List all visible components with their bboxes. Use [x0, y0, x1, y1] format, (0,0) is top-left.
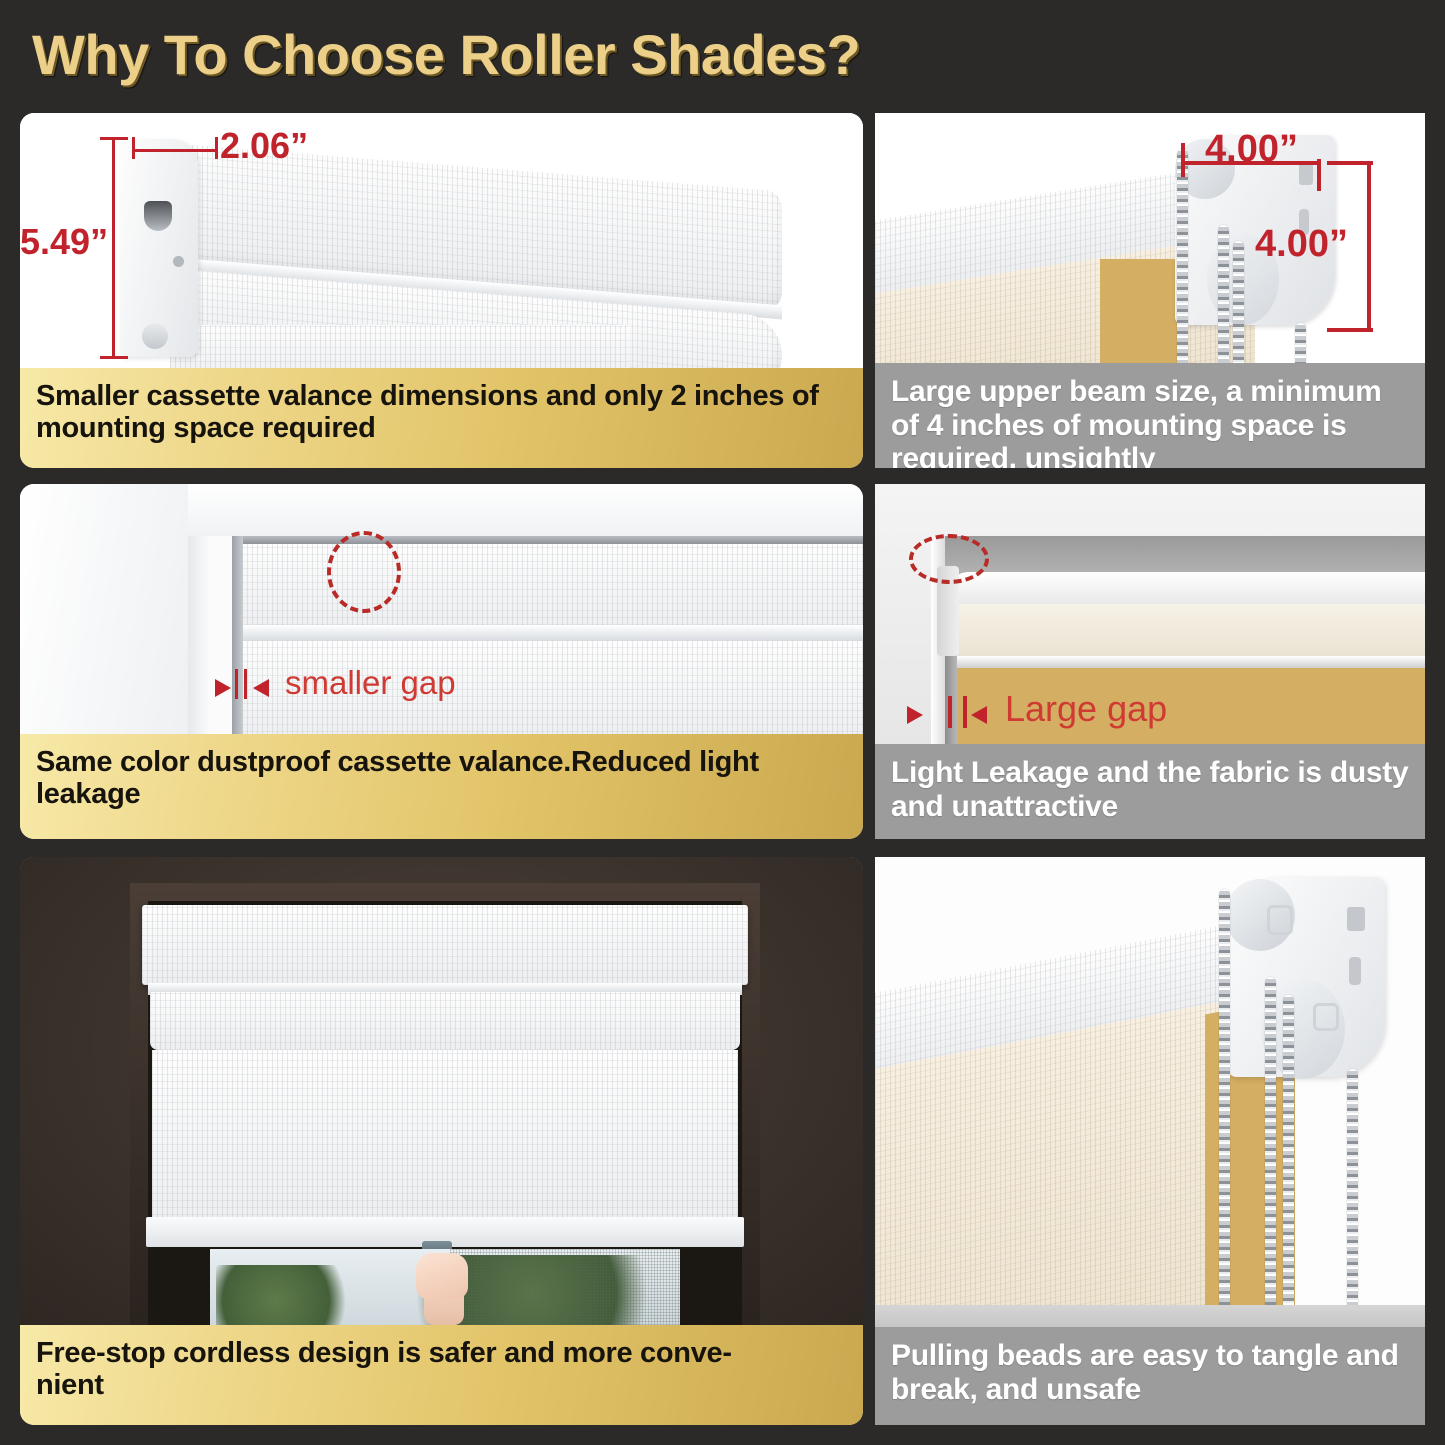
dim-beam-height-tick-top: [1327, 161, 1373, 165]
panel-grid: 2.06” 5.49” Smaller cassette valance dim…: [0, 0, 1445, 1445]
photo-large-beam: 4.00” 4.00”: [875, 113, 1425, 375]
large-gap-arrow-left-icon: [907, 706, 923, 724]
dim-width-tick-right: [215, 137, 218, 159]
panel-middle-left: smaller gap Same color dustproof cassett…: [20, 484, 863, 839]
valance-lower-roll: [150, 992, 740, 1050]
bead-chain-a[interactable]: [1219, 889, 1230, 1327]
dim-beam-width-label: 4.00”: [1205, 128, 1298, 171]
tree-foliage-left: [216, 1265, 366, 1325]
beam-under-edge: [953, 656, 1425, 668]
large-gap-marker-a: [948, 696, 952, 728]
caption-middle-left: Same color dustproof cassette valance.Re…: [20, 734, 863, 839]
dim-width-line: [132, 149, 218, 152]
caption-bottom-left: Free-stop cordless design is safer and m…: [20, 1325, 863, 1425]
gap-arrow-left-icon: [215, 679, 231, 697]
side-channel: [232, 536, 243, 746]
dim-beam-width-tick-left: [1181, 143, 1185, 177]
gap-marker-b: [244, 669, 247, 699]
dim-width-tick-left: [132, 137, 135, 159]
bracket-chain-guide-lower-icon: [1313, 1003, 1339, 1031]
panel-top-right: 4.00” 4.00” Large upper beam size, a min…: [875, 113, 1425, 468]
caption-top-left: Smaller cassette valance dimensions and …: [20, 368, 863, 468]
panel-middle-right: Large gap Light Leakage and the fabric i…: [875, 484, 1425, 839]
gap-label-large: Large gap: [1005, 688, 1167, 730]
gap-highlight-ellipse: [327, 531, 401, 613]
photo-light-leakage: Large gap: [875, 484, 1425, 746]
panel-top-left: 2.06” 5.49” Smaller cassette valance dim…: [20, 113, 863, 468]
window-screen-overlay: [450, 1249, 680, 1325]
shade-fabric-back: [1100, 259, 1178, 375]
bead-chain-b[interactable]: [1265, 977, 1276, 1327]
gap-marker-a: [235, 669, 238, 699]
bracket-notch-upper-icon: [1299, 163, 1313, 185]
caption-bottom-right: Pulling beads are easy to tangle and bre…: [875, 1327, 1425, 1425]
cassette-valance-installed: [142, 905, 748, 985]
photo-dustproof-cassette: smaller gap: [20, 484, 863, 746]
dim-height-line: [112, 137, 115, 359]
cassette-valance-lip: [242, 625, 863, 641]
dim-height-label: 5.49”: [20, 221, 108, 263]
floor-shadow-band: [875, 1305, 1425, 1327]
dim-beam-height-line: [1367, 161, 1371, 331]
panel-bottom-left: Free-stop cordless design is safer and m…: [20, 857, 863, 1425]
dim-beam-height-label: 4.00”: [1255, 223, 1348, 266]
panel-bottom-right: Pulling beads are easy to tangle and bre…: [875, 857, 1425, 1425]
caption-top-right: Large upper beam size, a minimum of 4 in…: [875, 363, 1425, 468]
gap-arrow-right-icon: [253, 679, 269, 697]
window-frame-head: [188, 484, 863, 536]
bracket-slot-mid-icon: [1349, 957, 1361, 985]
bracket-chain-guide-upper-icon: [1267, 905, 1293, 935]
bracket-screw-upper-icon: [173, 256, 184, 267]
dim-beam-width-tick-right: [1317, 159, 1321, 191]
bracket-slot-icon: [144, 201, 172, 231]
bracket-slot-top-icon: [1347, 907, 1365, 931]
bead-chain-d[interactable]: [1347, 1069, 1358, 1327]
bead-chain-left[interactable]: [1177, 149, 1188, 375]
dim-height-tick-top: [100, 137, 128, 140]
bead-chain-c[interactable]: [1283, 995, 1294, 1327]
photo-cassette-valance: 2.06” 5.49”: [20, 113, 863, 383]
infographic-root: Why To Choose Roller Shades? 2.06”: [0, 0, 1445, 1445]
bracket-screw-lower-icon: [142, 323, 168, 349]
caption-middle-right: Light Leakage and the fabric is dusty an…: [875, 744, 1425, 839]
gap-label-smaller: smaller gap: [285, 664, 456, 702]
large-gap-arrow-right-icon: [971, 706, 987, 724]
bead-chain-mid[interactable]: [1218, 225, 1229, 375]
photo-bead-chain-shade: [875, 857, 1425, 1327]
bead-chain-right[interactable]: [1233, 241, 1244, 375]
photo-cordless-shade-window: [20, 857, 863, 1325]
hand-fist: [416, 1253, 468, 1299]
window-frame-left: [20, 484, 188, 746]
leak-highlight-ellipse: [909, 534, 989, 584]
cassette-top-edge: [242, 536, 863, 544]
large-gap-marker-b: [963, 696, 967, 728]
valance-beam-face: [953, 604, 1425, 660]
dim-height-tick-bottom: [100, 356, 128, 359]
dim-width-label: 2.06”: [220, 125, 308, 167]
roller-shade-fabric: [152, 1050, 738, 1222]
dim-beam-height-tick-bottom: [1327, 328, 1373, 332]
